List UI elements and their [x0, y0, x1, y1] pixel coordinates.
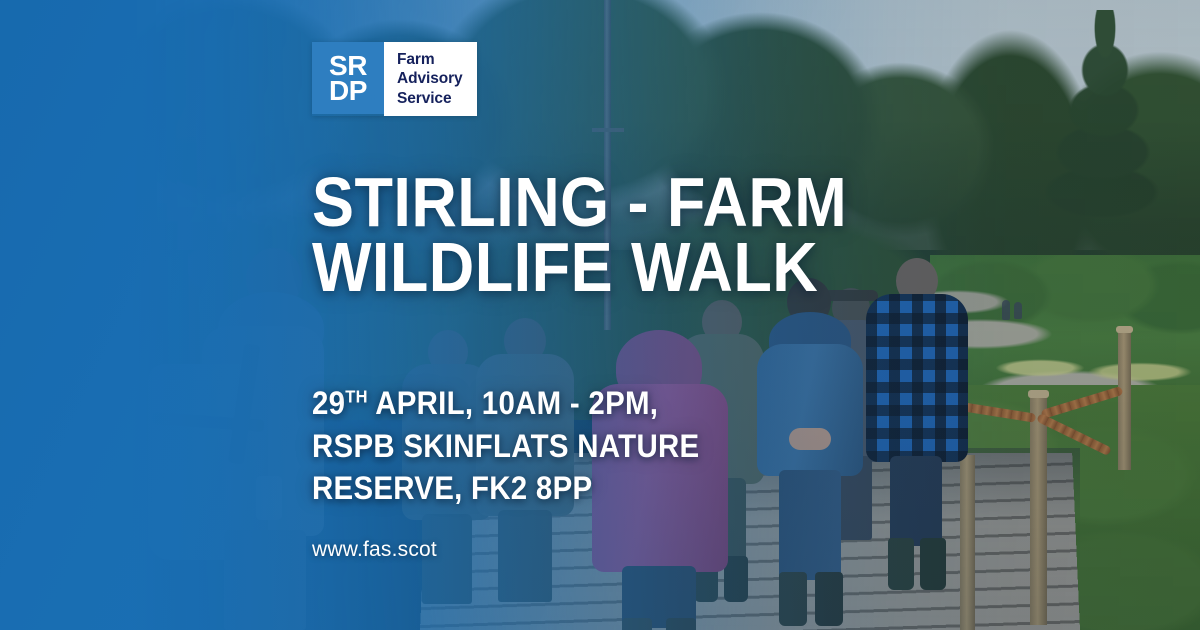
event-venue-line-1: RSPB SKINFLATS NATURE [312, 425, 882, 468]
banner-content: SR DP Farm Advisory Service STIRLING - F… [0, 0, 1200, 630]
srdp-logo-line2: DP [329, 78, 367, 103]
event-month-and-time: APRIL, 10AM - 2PM, [368, 385, 658, 421]
logo-word-farm: Farm [397, 50, 463, 69]
logo-word-service: Service [397, 89, 463, 108]
up-arrow-icon [369, 91, 377, 107]
website-url[interactable]: www.fas.scot [312, 538, 437, 562]
logo-wordmark: Farm Advisory Service [384, 42, 477, 116]
event-banner: SR DP Farm Advisory Service STIRLING - F… [0, 0, 1200, 630]
event-title: STIRLING - FARM WILDLIFE WALK [312, 170, 960, 300]
event-title-line-2: WILDLIFE WALK [312, 235, 960, 300]
srdp-farm-advisory-service-logo: SR DP Farm Advisory Service [312, 42, 477, 116]
event-title-line-1: STIRLING - FARM [312, 170, 960, 235]
event-day-ordinal-suffix: TH [345, 386, 368, 406]
event-day-number: 29 [312, 385, 345, 421]
event-details: 29TH APRIL, 10AM - 2PM, RSPB SKINFLATS N… [312, 382, 882, 510]
event-venue-line-2: RESERVE, FK2 8PP [312, 467, 882, 510]
logo-word-advisory: Advisory [397, 69, 463, 88]
srdp-logo-mark: SR DP [312, 42, 384, 114]
event-date-time: 29TH APRIL, 10AM - 2PM, [312, 382, 882, 425]
